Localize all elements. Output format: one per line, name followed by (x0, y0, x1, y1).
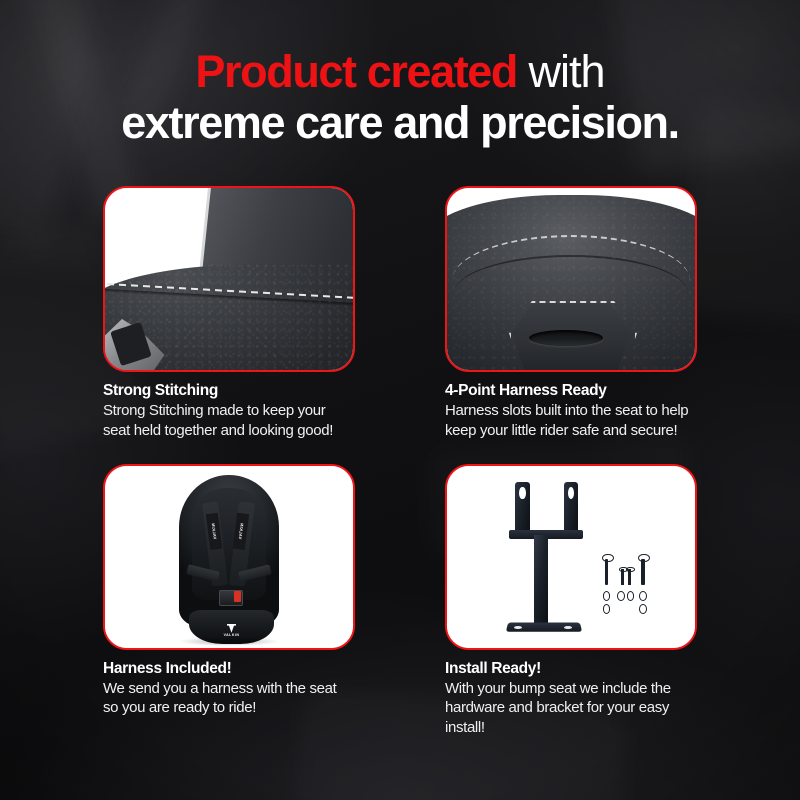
feature-caption: 4-Point Harness Ready Harness slots buil… (445, 372, 697, 440)
feature-title: 4-Point Harness Ready (445, 381, 697, 400)
headline-line-1: Product created with (0, 48, 800, 95)
bracket-center-post (534, 535, 548, 626)
bolt-short-left (621, 569, 624, 585)
bolt-short-right (628, 569, 631, 585)
base-plate-hole-right (564, 626, 572, 630)
brand-mark-icon (227, 624, 236, 633)
feature-body: We send you a harness with the seat so y… (103, 679, 355, 717)
feature-body: Harness slots built into the seat to hel… (445, 401, 697, 439)
bracket-arm-hole-left (519, 487, 525, 500)
feature-title: Strong Stitching (103, 381, 355, 400)
bolt-long-right (641, 559, 645, 585)
bolt-long-left (605, 559, 609, 585)
nut (639, 604, 647, 614)
feature-card-harness-ready: 4-Point Harness Ready Harness slots buil… (445, 186, 697, 440)
feature-title: Install Ready! (445, 659, 697, 678)
product-shadow (179, 637, 278, 646)
feature-body: With your bump seat we include the hardw… (445, 679, 697, 737)
buckle-release-tab (234, 591, 241, 602)
feature-photo-harness-ready (445, 186, 697, 372)
feature-title: Harness Included! (103, 659, 355, 678)
washer (603, 591, 611, 601)
nut (603, 604, 611, 614)
promo-graphic: Product created with extreme care and pr… (0, 0, 800, 800)
feature-photo-harness-included: VALKIN VALKIN VALKIN (103, 464, 355, 650)
feature-caption: Strong Stitching Strong Stitching made t… (103, 372, 355, 440)
feature-photo-install-ready (445, 464, 697, 650)
feature-caption: Install Ready! With your bump seat we in… (445, 650, 697, 737)
washer (627, 591, 635, 601)
feature-card-harness-included: VALKIN VALKIN VALKIN Harness Included! W… (103, 464, 355, 737)
feature-body: Strong Stitching made to keep your seat … (103, 401, 355, 439)
hardware-kit (601, 557, 665, 619)
feature-caption: Harness Included! We send you a harness … (103, 650, 355, 718)
headline-line-2: extreme care and precision. (0, 99, 800, 146)
washer (639, 591, 647, 601)
feature-grid: Strong Stitching Strong Stitching made t… (0, 186, 800, 737)
headline-line-1-rest: with (517, 46, 605, 97)
feature-card-install-ready: Install Ready! With your bump seat we in… (445, 464, 697, 737)
headline: Product created with extreme care and pr… (0, 48, 800, 147)
feature-photo-strong-stitching (103, 186, 355, 372)
headline-emphasis: Product created (195, 46, 517, 97)
feature-card-strong-stitching: Strong Stitching Strong Stitching made t… (103, 186, 355, 440)
washer (617, 591, 625, 601)
